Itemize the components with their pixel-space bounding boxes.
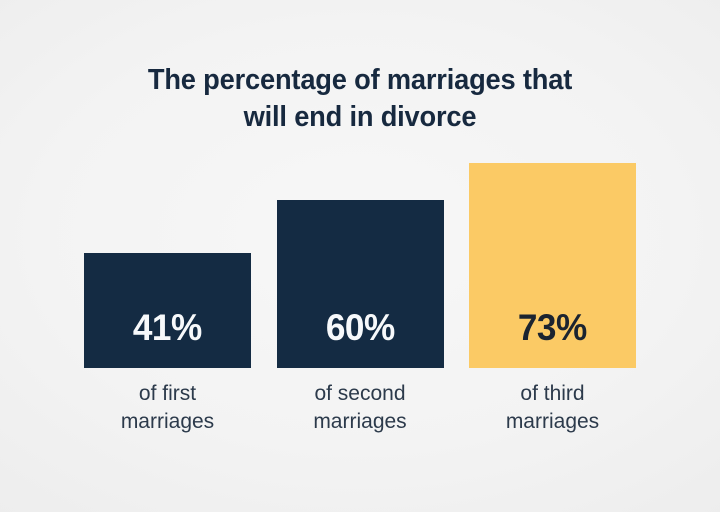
chart-title: The percentage of marriages that will en… xyxy=(22,62,699,136)
bar-value-second-marriages: 60% xyxy=(326,309,395,368)
bar-value-third-marriages: 73% xyxy=(518,309,587,368)
caption-second-marriages: of second marriages xyxy=(277,368,444,436)
caption-third-marriages: of third marriages xyxy=(469,368,636,436)
bars-row: 41% 60% 73% xyxy=(84,150,636,368)
bar-value-first-marriages: 41% xyxy=(133,309,202,368)
plot-area: 41% 60% 73% of first marriages of second… xyxy=(84,150,636,450)
bar-third-marriages: 73% xyxy=(469,163,636,368)
divorce-percentage-infographic: The percentage of marriages that will en… xyxy=(0,0,720,512)
caption-first-marriages: of first marriages xyxy=(84,368,251,436)
bar-first-marriages: 41% xyxy=(84,253,251,368)
bar-column-second-marriages: 60% xyxy=(277,200,444,368)
bar-column-third-marriages: 73% xyxy=(469,163,636,368)
bar-column-first-marriages: 41% xyxy=(84,253,251,368)
captions-row: of first marriages of second marriages o… xyxy=(84,368,636,450)
bar-second-marriages: 60% xyxy=(277,200,444,368)
